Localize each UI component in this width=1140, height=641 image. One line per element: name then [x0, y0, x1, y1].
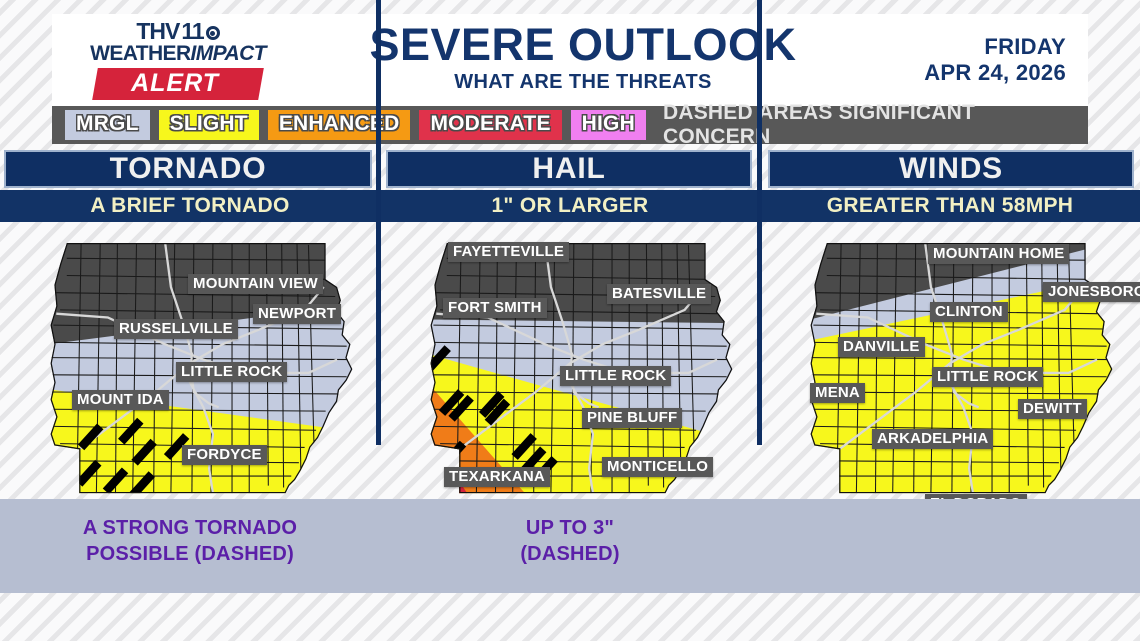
panel-footer-winds: [760, 499, 1140, 593]
city-label: LITTLE ROCK: [932, 367, 1043, 387]
city-label: MOUNTAIN VIEW: [188, 274, 323, 294]
panel-subtitle-bar: GREATER THAN 58MPH: [760, 190, 1140, 222]
city-label: MOUNTAIN HOME: [928, 244, 1069, 264]
city-label: ARKADELPHIA: [872, 429, 993, 449]
legend-chip-high: HIGH: [571, 110, 646, 139]
alert-banner-label: ALERT: [131, 69, 219, 98]
brand-thv-text: THV: [136, 20, 179, 43]
panel-winds: WINDSGREATER THAN 58MPHMOUNTAIN HOMEJONE…: [760, 148, 1140, 593]
city-label: FORT SMITH: [443, 298, 547, 318]
graphic-stage: THV11 WEATHERIMPACT ALERT SEVERE OUTLOOK…: [0, 0, 1140, 641]
city-label: NEWPORT: [253, 304, 341, 324]
city-label: TEXARKANA: [444, 467, 550, 487]
panel-title-box-hail: HAIL: [386, 150, 752, 188]
city-label: LITTLE ROCK: [176, 362, 287, 382]
panel-title: TORNADO: [110, 154, 267, 184]
city-label: JONESBORO: [1043, 282, 1140, 302]
thv11-weather-impact-logo: THV11 WEATHERIMPACT ALERT: [52, 20, 288, 100]
city-label: FORDYCE: [182, 445, 267, 465]
cbs-eye-icon: [206, 26, 220, 40]
legend-chip-slight: SLIGHT: [159, 110, 259, 139]
brand-weather-impact-line: WEATHERIMPACT: [90, 42, 266, 65]
risk-map-hail: FAYETTEVILLEBATESVILLEFORT SMITHLITTLE R…: [380, 222, 760, 499]
legend-chip-moderate: MODERATE: [419, 110, 561, 139]
panel-title: WINDS: [899, 154, 1003, 184]
panel-hail: HAIL1" OR LARGERFAYETTEVILLEBATESVILLEFO…: [380, 148, 760, 593]
city-label: LITTLE ROCK: [560, 366, 671, 386]
date-weekday: FRIDAY: [878, 34, 1066, 60]
header-bar: THV11 WEATHERIMPACT ALERT SEVERE OUTLOOK…: [52, 14, 1088, 106]
legend-dashed-note: DASHED AREAS SIGNIFICANT CONCERN: [663, 101, 1088, 149]
footer-note-line: POSSIBLE (DASHED): [86, 542, 294, 568]
alert-banner: ALERT: [92, 68, 264, 100]
brand-network-line: THV11: [136, 20, 219, 43]
panel-title-box-winds: WINDS: [768, 150, 1134, 188]
risk-map-winds: MOUNTAIN HOMEJONESBOROCLINTONDANVILLELIT…: [760, 222, 1140, 499]
panel-title: HAIL: [532, 154, 605, 184]
city-label: DEWITT: [1018, 399, 1087, 419]
panel-title-box-tornado: TORNADO: [4, 150, 372, 188]
legend-chip-mrgl: MRGL: [65, 110, 150, 139]
panel-subtitle-bar: A BRIEF TORNADO: [0, 190, 380, 222]
panel-footer-tornado: A STRONG TORNADOPOSSIBLE (DASHED): [0, 499, 380, 593]
date-value: APR 24, 2026: [878, 60, 1066, 86]
threat-panels: TORNADOA BRIEF TORNADOMOUNTAIN VIEWNEWPO…: [0, 148, 1140, 593]
city-label: BATESVILLE: [607, 284, 711, 304]
panel-tornado: TORNADOA BRIEF TORNADOMOUNTAIN VIEWNEWPO…: [0, 148, 380, 593]
footer-note-line: UP TO 3": [526, 516, 614, 542]
date-block: FRIDAY APR 24, 2026: [878, 34, 1088, 86]
brand-impact-text: IMPACT: [191, 42, 266, 65]
city-label: MONTICELLO: [602, 457, 713, 477]
panel-divider-1: [376, 0, 381, 445]
panel-divider-2: [757, 0, 762, 445]
risk-map-tornado: MOUNTAIN VIEWNEWPORTRUSSELLVILLELITTLE R…: [0, 222, 380, 499]
legend-chip-enhanced: ENHANCED: [268, 110, 411, 139]
panel-subtitle-bar: 1" OR LARGER: [380, 190, 760, 222]
city-label: FAYETTEVILLE: [448, 242, 569, 262]
footer-note-line: (DASHED): [520, 542, 619, 568]
panel-footer-hail: UP TO 3"(DASHED): [380, 499, 760, 593]
panel-subtitle: GREATER THAN 58MPH: [827, 194, 1074, 218]
brand-weather-text: WEATHER: [90, 42, 190, 65]
city-label: MOUNT IDA: [72, 390, 169, 410]
city-label: CLINTON: [930, 302, 1008, 322]
panel-subtitle: 1" OR LARGER: [491, 194, 648, 218]
risk-legend-bar: MRGLSLIGHTENHANCEDMODERATEHIGH DASHED AR…: [52, 106, 1088, 144]
footer-note-line: A STRONG TORNADO: [83, 516, 297, 542]
city-label: MENA: [810, 383, 865, 403]
city-label: PINE BLUFF: [582, 408, 682, 428]
brand-channel-number: 11: [181, 20, 203, 43]
city-label: RUSSELLVILLE: [114, 319, 238, 339]
panel-subtitle: A BRIEF TORNADO: [90, 194, 289, 218]
city-label: DANVILLE: [838, 337, 925, 357]
